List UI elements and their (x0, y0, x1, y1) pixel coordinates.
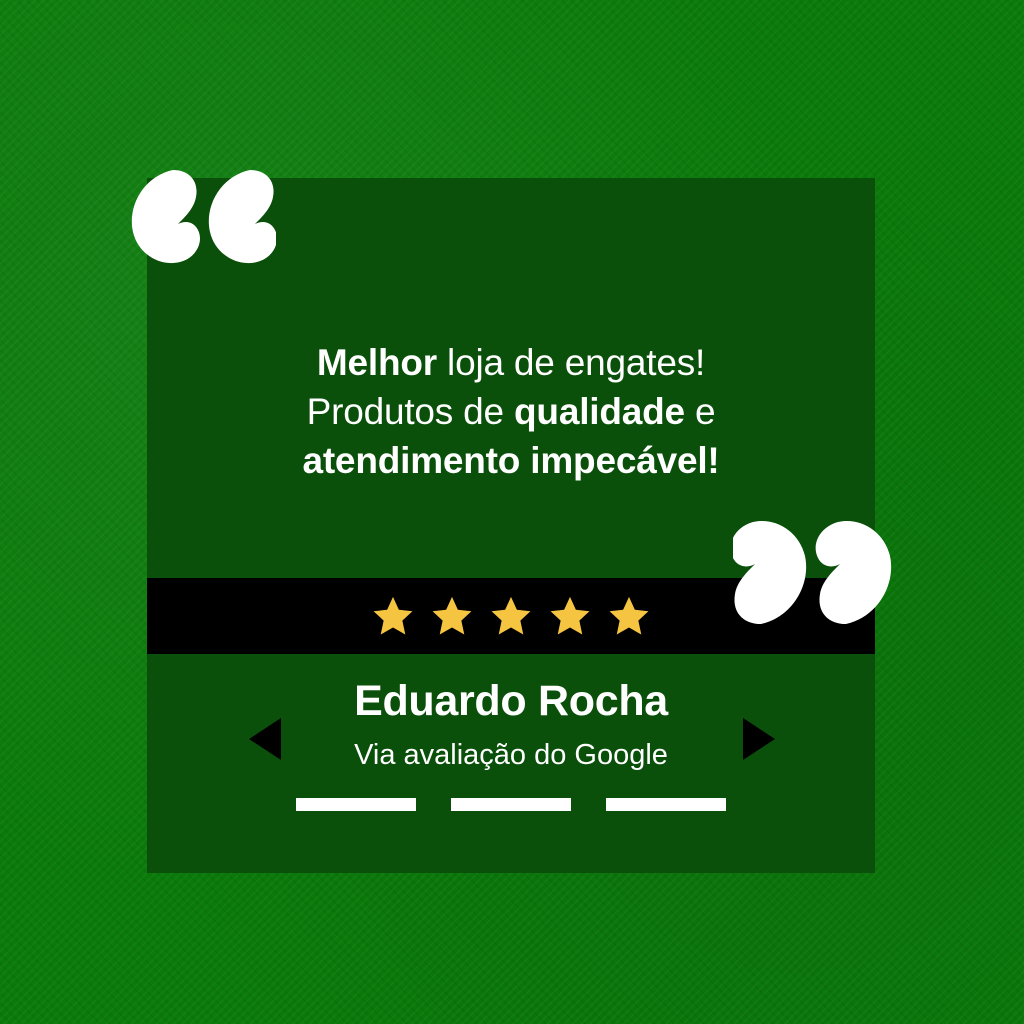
quote-line-1-bold: Melhor (317, 342, 437, 383)
quote-line-2: Produtos de qualidade e (177, 387, 845, 436)
rating-band (147, 578, 875, 654)
star-icon-3 (489, 594, 533, 638)
pagination-bar-3[interactable] (606, 798, 726, 811)
quote-line-2-post: e (685, 391, 715, 432)
star-icon-4 (548, 594, 592, 638)
quote-line-2-pre: Produtos de (307, 391, 514, 432)
quote-line-2-bold: qualidade (514, 391, 685, 432)
triangle-right-icon[interactable] (743, 718, 775, 760)
star-icon-5 (607, 594, 651, 638)
pagination-indicators (147, 798, 875, 811)
pagination-bar-2[interactable] (451, 798, 571, 811)
quote-line-1: Melhor loja de engates! (177, 338, 845, 387)
star-icon-2 (430, 594, 474, 638)
triangle-left-icon[interactable] (249, 718, 281, 760)
star-icon-1 (371, 594, 415, 638)
quote-line-1-rest: loja de engates! (437, 342, 705, 383)
testimonial-slide: Melhor loja de engates! Produtos de qual… (0, 0, 1024, 1024)
testimonial-card: Melhor loja de engates! Produtos de qual… (147, 178, 875, 873)
testimonial-quote-text: Melhor loja de engates! Produtos de qual… (147, 338, 875, 485)
quote-line-3-bold: atendimento impecável! (302, 440, 719, 481)
pagination-bar-1[interactable] (296, 798, 416, 811)
quote-line-3: atendimento impecável! (177, 436, 845, 485)
